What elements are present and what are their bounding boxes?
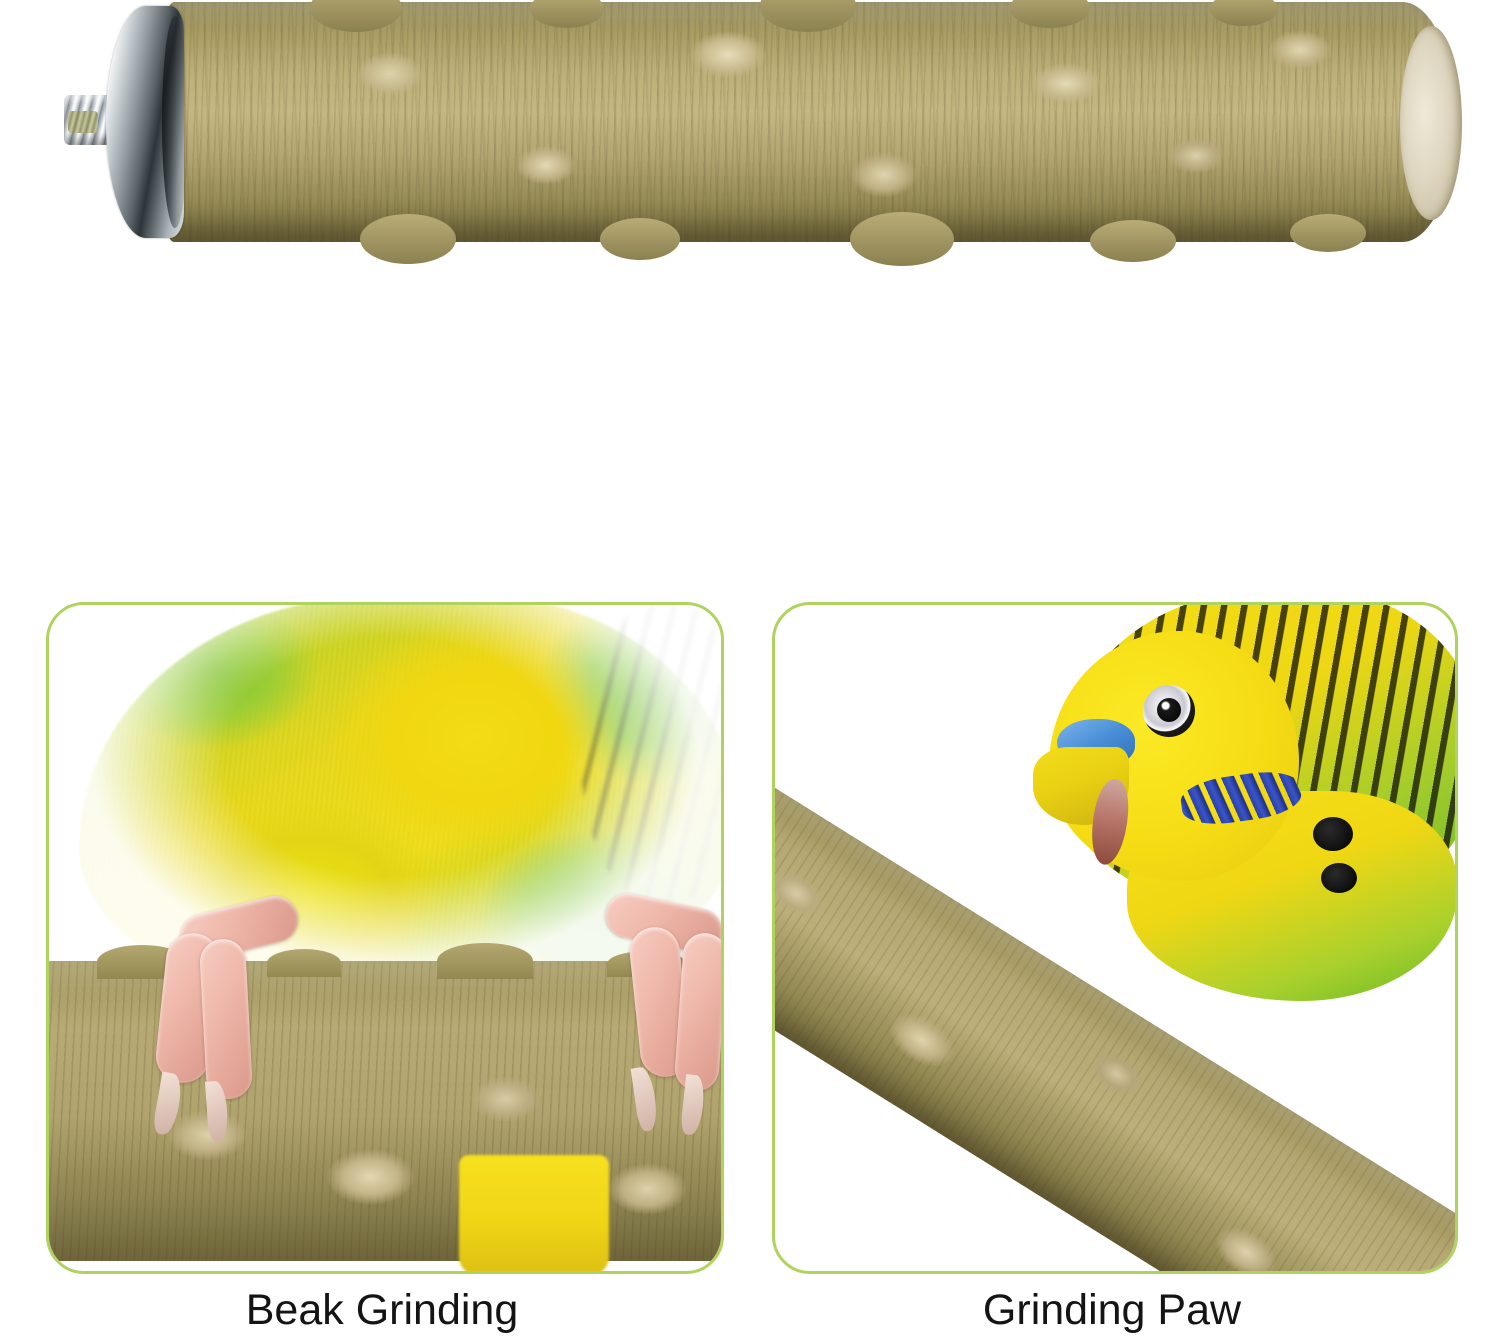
natural-wood-bird-perch [60, 0, 1460, 280]
branch-knob [1290, 214, 1366, 252]
panel-caption-grinding-paw: Grinding Paw [772, 1280, 1452, 1340]
branch-knob [850, 212, 954, 266]
yellow-tail [459, 1155, 609, 1274]
toe [674, 932, 724, 1093]
detail-presentation-banner: Detail presentation [0, 336, 1500, 536]
natural-wood-branch [156, 2, 1456, 242]
branch-knob [360, 214, 456, 264]
banner-title: Detail presentation [312, 378, 1187, 494]
black-throat-spot [1313, 817, 1353, 851]
branch-knob [437, 943, 533, 979]
detail-panel-grinding-paw[interactable] [772, 602, 1458, 1274]
bird-foot-right [595, 901, 724, 1141]
budgerigar-head [1031, 602, 1458, 991]
metal-mount-bracket [106, 6, 184, 238]
cut-wood-cross-section [1400, 26, 1462, 220]
black-throat-spot [1321, 863, 1357, 893]
detail-panels: Beak Grinding Grinding Paw [0, 536, 1500, 1341]
branch-knob [1090, 220, 1176, 262]
detail-panel-beak-grinding[interactable] [46, 602, 724, 1274]
product-hero-image [0, 0, 1500, 336]
claw [152, 1072, 184, 1137]
bird-foot-left [133, 905, 323, 1135]
budgerigar-eye [1143, 685, 1195, 737]
toe [199, 938, 253, 1100]
branch-knob [600, 218, 680, 260]
claw [631, 1066, 660, 1132]
wing-barring [581, 605, 724, 905]
panel-caption-beak-grinding: Beak Grinding [46, 1280, 718, 1340]
